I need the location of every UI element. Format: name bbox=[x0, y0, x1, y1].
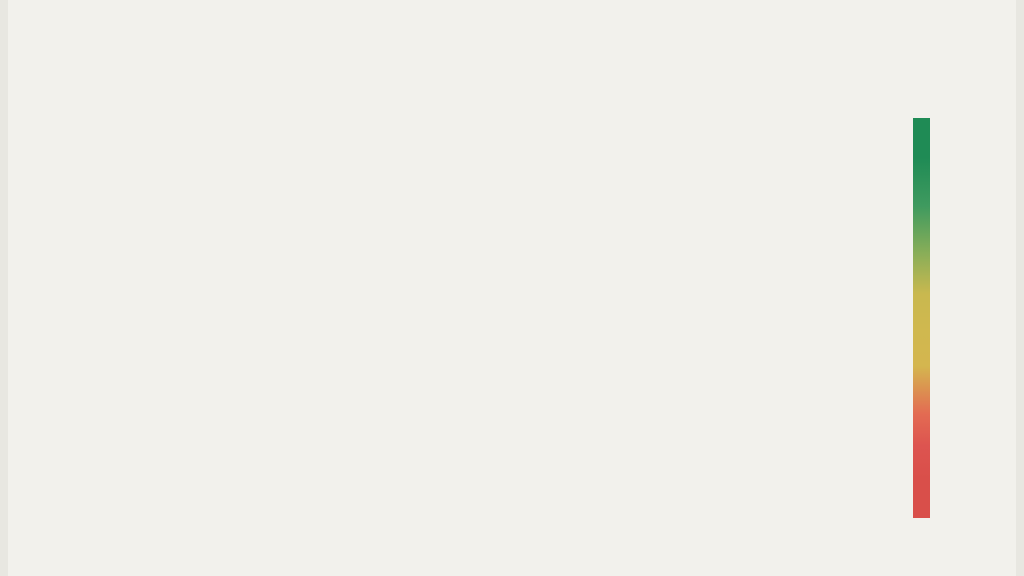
colorbar bbox=[905, 106, 1005, 518]
colorbar-gradient bbox=[913, 118, 930, 518]
left-edge-strip bbox=[0, 0, 8, 576]
heatmap-plot-area bbox=[220, 106, 890, 518]
right-edge-strip bbox=[1016, 0, 1024, 576]
chart-canvas bbox=[0, 0, 1024, 576]
y-axis-tick-labels bbox=[60, 106, 212, 518]
